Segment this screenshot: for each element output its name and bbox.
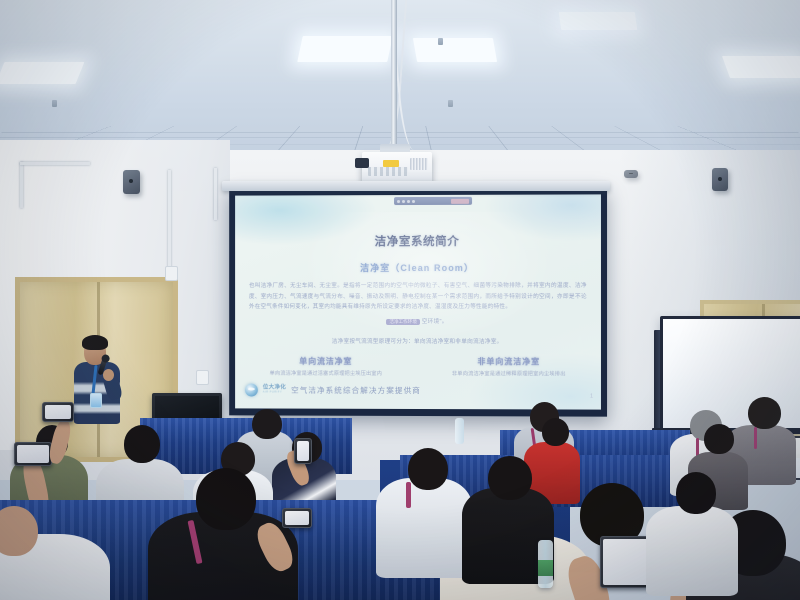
wall-speaker-right (712, 168, 728, 191)
ceiling-light-panel (559, 12, 638, 30)
column-text: 单向流洁净室是通过活塞式原理把尘埃压出室内 (235, 370, 417, 377)
ceiling-light-panel (413, 38, 497, 62)
presenter-hand (103, 369, 114, 381)
highlight-chip: 洁净工作环境 (386, 318, 420, 324)
projector-ports (368, 167, 408, 176)
slide-annotation-toolbar[interactable] (394, 197, 472, 205)
sprinkler-icon (438, 38, 443, 45)
slide-body-line-3: 洁净室按气流流型原理可分为：单向流洁净室和非单向流洁净室。 (235, 337, 601, 345)
toolbar-dot-icon[interactable] (407, 200, 410, 203)
water-bottle-label (538, 560, 553, 576)
slide-body-paragraph: 也叫洁净厂房、无尘车间、无尘室。是指将一定范围内的空气中的微粒子、有害空气、细菌… (249, 281, 587, 313)
projector-vent-icon (410, 158, 428, 170)
ceiling-light-panel (722, 56, 800, 78)
toolbar-highlight-chip[interactable] (451, 198, 469, 203)
slide-column-non-unidirectional: 非单向流洁净室 非单向流洁净室是通过稀释原理把室内尘埃排出 (417, 356, 601, 377)
ceiling-mount-bracket (624, 170, 638, 178)
presenter-hair (82, 335, 108, 350)
slide-page-number: 1 (590, 393, 593, 399)
wall-conduit (20, 162, 90, 165)
slide-body-line-2-suffix: 空环境"。 (422, 319, 448, 325)
projector-power-plug (355, 158, 369, 168)
sprinkler-icon (52, 100, 57, 107)
wall-conduit (20, 162, 23, 208)
slide-body-line-2: 洁净工作环境 空环境"。 (235, 317, 601, 325)
company-logo-text: 位大净化 AIR PURIFY (263, 385, 286, 394)
company-logo-icon (245, 383, 258, 396)
slide-subtitle: 洁净室（Clean Room） (235, 261, 601, 274)
slide-footer-tagline: 空气洁净系统综合解决方案提供商 (291, 384, 421, 395)
column-heading: 非单向流洁净室 (417, 356, 601, 367)
projector-mount-pole (391, 0, 397, 152)
water-bottle (455, 418, 464, 444)
slide-title: 洁净室系统简介 (235, 233, 601, 250)
slide-two-column-section: 单向流洁净室 单向流洁净室是通过活塞式原理把尘埃压出室内 非单向流洁净室 非单向… (235, 356, 601, 378)
slide-column-unidirectional: 单向流洁净室 单向流洁净室是通过活塞式原理把尘埃压出室内 (235, 356, 417, 377)
wall-conduit (214, 168, 217, 220)
slide-footer: 位大净化 AIR PURIFY 空气洁净系统综合解决方案提供商 (245, 381, 591, 400)
company-logo-subtext: AIR PURIFY (263, 391, 286, 394)
toolbar-dot-icon[interactable] (402, 200, 405, 203)
column-text: 非单向流洁净室是通过稀释原理把室内尘埃排出 (417, 370, 601, 377)
wall-conduit (168, 170, 171, 276)
column-heading: 单向流洁净室 (235, 356, 417, 367)
ceiling-light-panel (0, 62, 84, 84)
projection-screen-frame: 洁净室系统简介 洁净室（Clean Room） 也叫洁净厂房、无尘车间、无尘室。… (229, 187, 607, 416)
projection-screen: 洁净室系统简介 洁净室（Clean Room） 也叫洁净厂房、无尘车间、无尘室。… (235, 194, 601, 409)
conference-room-photo: 洁净室系统简介 洁净室（Clean Room） 也叫洁净厂房、无尘车间、无尘室。… (0, 0, 800, 600)
screen-roller-housing (222, 181, 610, 191)
wall-speaker-left (123, 170, 140, 194)
projector-warning-label (383, 160, 399, 167)
sprinkler-icon (448, 100, 453, 107)
wall-outlet[interactable] (165, 266, 178, 281)
presenter-badge (90, 393, 102, 408)
toolbar-dot-icon[interactable] (397, 200, 400, 203)
wall-outlet[interactable] (196, 370, 209, 385)
toolbar-pen-icon[interactable] (412, 200, 415, 203)
